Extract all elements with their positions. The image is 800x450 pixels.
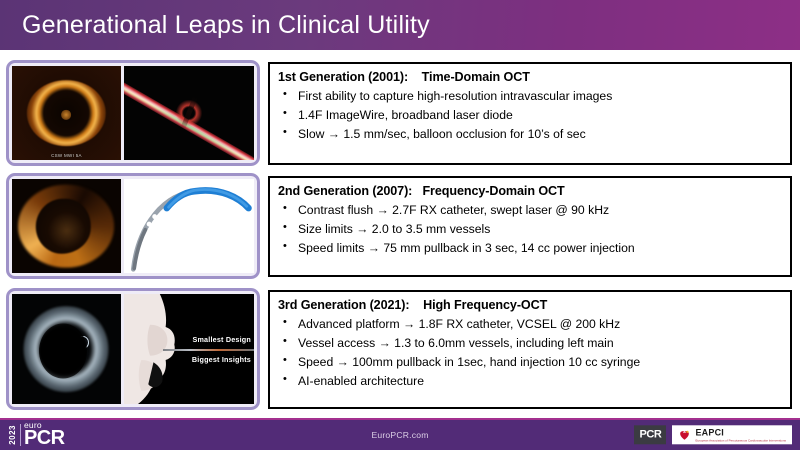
slide-header: Generational Leaps in Clinical Utility [0, 0, 800, 50]
photo-overlay-text: Smallest Design Biggest Insights [192, 294, 251, 404]
oct-cross-section-amber-image: CSW MWI 5A [12, 66, 121, 160]
heart-icon [678, 429, 691, 442]
second-generation-bullet-list: Contrast flush → 2.7F RX catheter, swept… [278, 202, 782, 256]
slide-footer: 2023 euro PCR EuroPCR.com PCR EAPCI Euro… [0, 420, 800, 450]
footer-logos-group: PCR EAPCI European Association of Percut… [634, 425, 792, 444]
second-generation-image-panel [6, 173, 260, 279]
list-item: First ability to capture high-resolution… [278, 88, 782, 104]
list-item: Contrast flush → 2.7F RX catheter, swept… [278, 202, 782, 218]
blue-catheter-curve-icon [124, 179, 254, 273]
gloved-hand-wire-photo-image: Smallest Design Biggest Insights [124, 294, 254, 404]
oct-catheter-marker [77, 336, 89, 349]
third-generation-image-panel: Smallest Design Biggest Insights [6, 288, 260, 410]
oct-cross-section-crescent-image [12, 179, 121, 273]
catheter-photo-blue-image [124, 179, 254, 273]
eapci-text-group: EAPCI European Association of Percutaneo… [695, 428, 786, 441]
list-item: Speed limits → 75 mm pullback in 3 sec, … [278, 240, 782, 256]
list-item: Slow → 1.5 mm/sec, balloon occlusion for… [278, 126, 782, 142]
first-generation-image-panel: CSW MWI 5A [6, 60, 260, 166]
first-generation-text-box: 1st Generation (2001): Time-Domain OCT F… [268, 62, 792, 165]
list-item: AI-enabled architecture [278, 373, 782, 389]
eapci-name-label: EAPCI [695, 428, 786, 437]
oct-image-caption: CSW MWI 5A [12, 153, 121, 158]
third-generation-heading: 3rd Generation (2021): High Frequency-OC… [278, 298, 782, 312]
list-item: Advanced platform → 1.8F RX catheter, VC… [278, 316, 782, 332]
third-generation-text-box: 3rd Generation (2021): High Frequency-OC… [268, 290, 792, 409]
second-generation-heading: 2nd Generation (2007): Frequency-Domain … [278, 184, 782, 198]
list-item: Speed → 100mm pullback in 1sec, hand inj… [278, 354, 782, 370]
first-generation-bullet-list: First ability to capture high-resolution… [278, 88, 782, 142]
page-title: Generational Leaps in Clinical Utility [0, 11, 430, 40]
third-generation-bullet-list: Advanced platform → 1.8F RX catheter, VC… [278, 316, 782, 389]
pcr-badge: PCR [634, 426, 666, 445]
catheter-photo-red-image [124, 66, 254, 160]
list-item: Size limits → 2.0 to 3.5 mm vessels [278, 221, 782, 237]
overlay-line-biggest-insights: Biggest Insights [192, 355, 251, 364]
second-generation-text-box: 2nd Generation (2007): Frequency-Domain … [268, 176, 792, 277]
slide: Generational Leaps in Clinical Utility C… [0, 0, 800, 450]
eapci-subtitle-label: European Association of Percutaneous Car… [695, 439, 786, 442]
overlay-line-smallest-design: Smallest Design [192, 335, 251, 344]
list-item: Vessel access → 1.3 to 6.0mm vessels, in… [278, 335, 782, 351]
eapci-badge: EAPCI European Association of Percutaneo… [672, 425, 792, 444]
list-item: 1.4F ImageWire, broadband laser diode [278, 107, 782, 123]
first-generation-heading: 1st Generation (2001): Time-Domain OCT [278, 70, 782, 84]
oct-cross-section-grayscale-image [12, 294, 121, 404]
